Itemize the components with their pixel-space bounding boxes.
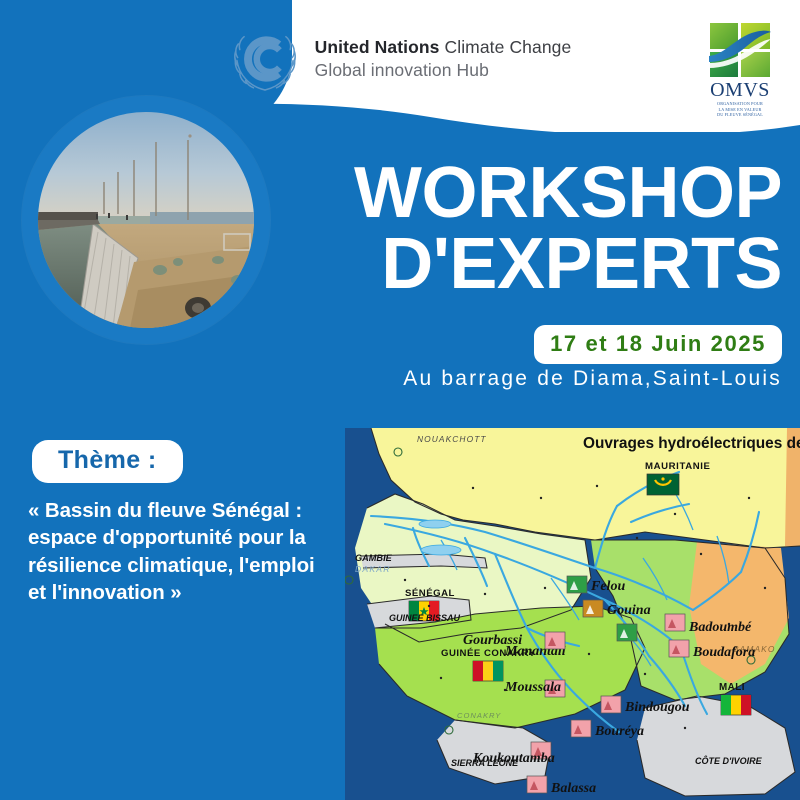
page-title: WORKSHOP D'EXPERTS [162,158,782,301]
map-country-mauritanie: MAURITANIE [645,461,711,472]
omvs-subtitle: ORGANISATION POUR LA MISE EN VALEUR DU F… [694,101,786,118]
map-country-guinee-bissau: GUINEE BISSAU [389,613,461,623]
dam-gouina: Gouina [583,600,651,618]
omvs-wordmark: OMVS [694,80,786,100]
dam-label-gourbassi: Gourbassi [463,633,522,648]
map-country-senegal: SÉNÉGAL [405,587,455,599]
map-capital-dakar: DAKAR [355,564,391,574]
event-location: Au barrage de Diama,Saint-Louis [403,367,782,391]
dam-gourbassi: Gourbassi [463,632,565,649]
omvs-hydro-map: Ouvrages hydroélectriques de l'OMVS NOUA… [345,428,800,800]
mali-flag-icon [721,695,751,715]
dam-label-boudafora: Boudafora [692,645,755,660]
map-capital-nouakchott: NOUAKCHOTT [417,434,487,444]
unfccc-laurel-c-logo-icon [229,23,301,95]
dam-label-moussala: Moussala [504,680,561,695]
title-line-1: WORKSHOP [162,158,782,229]
dam-label-balassa: Balassa [550,781,596,796]
dam-label-bindougou: Bindougou [624,700,690,715]
dam-moussala: Moussala [504,680,565,697]
dam-felou: Felou [567,576,625,594]
map-capital-conakry: CONAKRY [457,711,501,720]
unfccc-title-line1: United Nations Climate Change [315,36,572,59]
omvs-emblem-icon [709,22,771,78]
mauritania-flag-icon [647,474,679,495]
event-date-badge: 17 et 18 Juin 2025 [534,325,782,364]
map-graphic: Ouvrages hydroélectriques de l'OMVS NOUA… [345,428,800,800]
dam-label-gouina: Gouina [607,603,651,618]
dam-label-felou: Felou [590,579,625,594]
map-country-gambie: GAMBIE [355,553,393,563]
map-country-mali: MALI [719,682,745,693]
unfccc-title-line2: Global innovation Hub [315,59,572,82]
dam-label-boureya: Bouréya [594,724,644,739]
title-line-2: D'EXPERTS [162,229,782,300]
omvs-logo: OMVS ORGANISATION POUR LA MISE EN VALEUR… [694,22,786,114]
map-country-cote-divoire: CÔTE D'IVOIRE [695,755,763,766]
guinea-flag-icon [473,661,503,681]
dam-label-koukoutamba: Koukoutamba [472,751,555,766]
theme-statement: « Bassin du fleuve Sénégal : espace d'op… [28,497,338,606]
dam-label-badoumbe: Badoumbé [688,620,752,635]
map-title: Ouvrages hydroélectriques de l'OMVS [583,435,800,452]
theme-label-badge: Thème : [32,440,183,483]
